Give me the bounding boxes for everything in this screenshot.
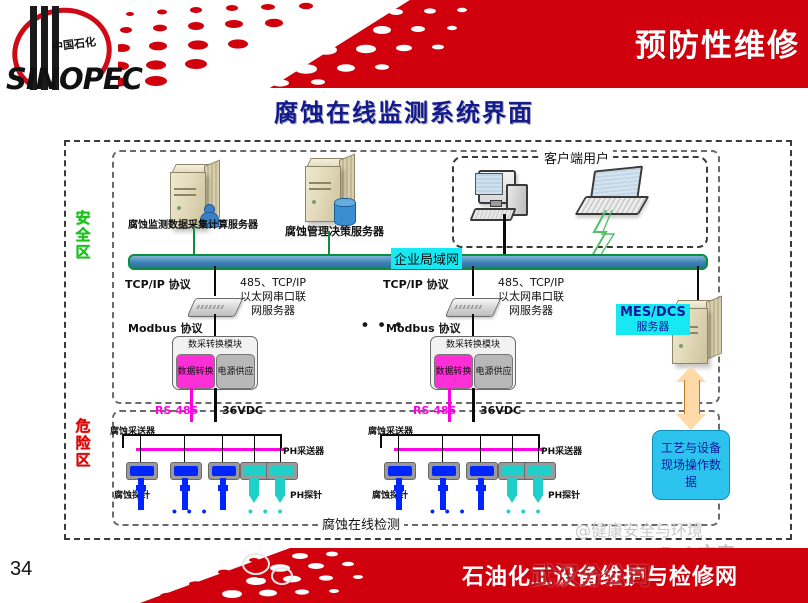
branch2-power-label: 36VDC [480, 404, 521, 417]
branch2-modbus-label: Modbus 协议 [386, 320, 460, 336]
branch2-power-drop [472, 388, 475, 422]
branch1-converter-module: 数采转换模块 数据转换 电源供应 [172, 336, 258, 390]
branch2-corrosion-probe-3 [476, 478, 486, 510]
slide-canvas: 预防性维修 中国石化 SINOPEC 腐蚀在线监测系统界面 安全区 危险区 客户… [0, 0, 808, 603]
branch2-modbus-line [472, 314, 474, 336]
branch2-module-power-cell: 电源供应 [474, 354, 513, 389]
branch2-corrosion-probe-1 [394, 478, 404, 510]
branch2-ph-xmtr-label: PH采送器 [541, 444, 582, 457]
client-link-desktop [503, 214, 506, 256]
footer-halftone-icon [140, 548, 470, 603]
branch1-rs485-bus [136, 448, 286, 451]
branch1-corrosion-probe-1 [136, 478, 146, 510]
zone-label-safe: 安全区 [74, 210, 92, 261]
branch2-module-data-cell: 数据转换 [434, 354, 473, 389]
page-title: 腐蚀在线监测系统界面 [0, 93, 808, 128]
branch1-tcpip-label: TCP/IP 协议 [125, 276, 191, 292]
branch2-rs485-bus [394, 448, 544, 451]
branch2-corr-xmtr-label: 腐蚀采送器 [368, 424, 413, 437]
architecture-diagram: 安全区 危险区 客户端用户 腐蚀在线检测 腐蚀监测数据采集计算服务器 腐蚀管理决… [0, 128, 808, 538]
laptop-icon [580, 168, 644, 216]
branch1-ph-xmtr-label: PH采送器 [283, 444, 324, 457]
branch2-corrosion-ellipsis: • • • [430, 506, 467, 516]
branch2-module-title: 数采转换模块 [431, 337, 515, 353]
data-flow-arrow-icon [676, 366, 706, 430]
server-label-decision: 腐蚀管理决策服务器 [285, 223, 384, 239]
client-link-laptop [582, 210, 622, 258]
client-zone-caption: 客户端用户 [540, 148, 613, 167]
desktop-pc-icon [472, 170, 528, 224]
b2-s2-wire [442, 436, 443, 462]
branch1-ph-probe-label: PH探针 [290, 488, 322, 501]
branch1-tcpip-line-top [214, 266, 216, 296]
branch2-ph-ellipsis: • • • [506, 506, 543, 516]
b2-s4-wire [512, 436, 513, 462]
branch2-gateway-label: 485、TCP/IP以太网串口联网服务器 [494, 276, 568, 318]
b1-s4-wire [254, 436, 255, 462]
header-title: 预防性维修 [635, 20, 800, 65]
branch2-tcpip-label: TCP/IP 协议 [383, 276, 449, 292]
branch1-module-data-cell: 数据转换 [176, 354, 215, 389]
server-link-collector [193, 228, 195, 256]
halftone-pattern-icon [110, 0, 570, 88]
watermark-overlay: 武汉分公司 [531, 556, 651, 591]
branch1-module-title: 数采转换模块 [173, 337, 257, 353]
mes-dcs-label-line1: MES/DCS [620, 306, 686, 320]
b1-s2-wire [184, 436, 185, 462]
field-operation-data-box: 工艺与设备现场操作数据 [652, 430, 730, 500]
branch1-corrosion-ellipsis: • • • [172, 506, 209, 516]
branch1-corrosion-probe-3 [218, 478, 228, 510]
branch1-power-label: 36VDC [222, 404, 263, 417]
b2-s3-wire [480, 436, 481, 462]
mes-dcs-label-line2: 服务器 [620, 320, 686, 333]
branch1-modbus-line [214, 314, 216, 336]
header-band: 预防性维修 [110, 0, 808, 88]
mes-dcs-label: MES/DCS 服务器 [616, 304, 690, 335]
branch2-rs485-label: RS 485 [413, 404, 456, 417]
branch2-tcpip-line-top [472, 266, 474, 296]
bottom-zone-caption: 腐蚀在线检测 [318, 514, 404, 533]
branch2-ph-probe-label: PH探针 [548, 488, 580, 501]
footer-band: 石油化工设备维护与检修网 [0, 548, 808, 603]
b2-s1-wire [398, 436, 399, 462]
server-link-decision [328, 231, 330, 256]
logo-wordmark: SINOPEC [6, 62, 142, 96]
branch1-module-power-cell: 电源供应 [216, 354, 255, 389]
b2-s5-wire [538, 436, 539, 462]
branch1-corr-xmtr-label: 腐蚀采送器 [110, 424, 155, 437]
watermark-hse: @健康安全与环境 [575, 517, 703, 541]
branch1-rs485-label: RS 485 [155, 404, 198, 417]
branch2-converter-module: 数采转换模块 数据转换 电源供应 [430, 336, 516, 390]
zone-label-hazard: 危险区 [74, 418, 92, 469]
branch1-modbus-label: Modbus 协议 [128, 320, 202, 336]
branch1-gateway-label: 485、TCP/IP以太网串口联网服务器 [236, 276, 310, 318]
branch1-ph-ellipsis: • • • [248, 506, 285, 516]
b1-s5-wire [280, 436, 281, 462]
page-number: 34 [10, 558, 32, 581]
branch1-power-drop [214, 388, 217, 422]
database-icon [334, 198, 356, 226]
b1-s1-wire [140, 436, 141, 462]
enterprise-lan-label: 企业局域网 [391, 248, 462, 269]
b1-s3-wire [222, 436, 223, 462]
